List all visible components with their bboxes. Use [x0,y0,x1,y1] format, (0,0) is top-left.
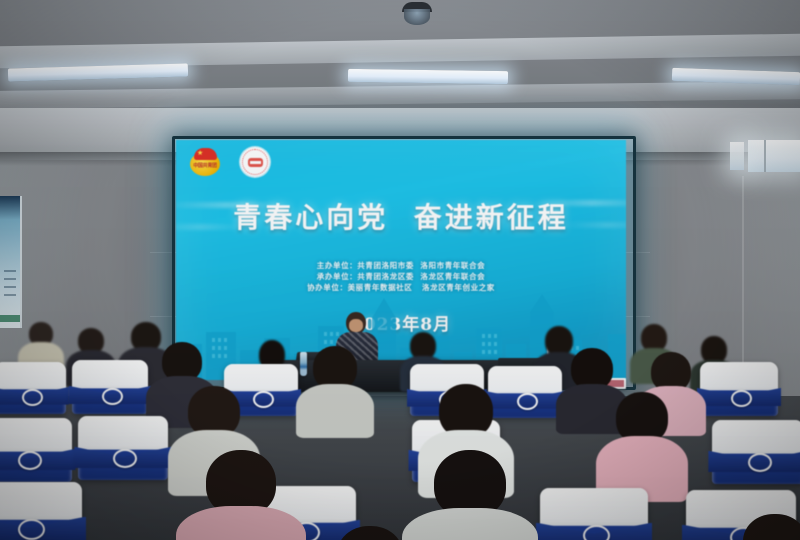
chair [700,362,778,416]
conference-hall-photo: ★ 中国共青团 青春心向党 奋进新征程 主办单位：共青团洛阳市委 洛阳市青年联合… [0,0,800,540]
chair [72,360,148,414]
youth-federation-emblem-icon [240,147,270,177]
chair [0,482,82,540]
screen-logos: ★ 中国共青团 [188,147,270,177]
chair [78,416,168,480]
audience-member [176,450,306,540]
chair [0,362,66,414]
audience-area [0,300,800,540]
credit-line-organiser: 承办单位：共青团洛龙区委 洛龙区青年联合会 [176,271,626,282]
audience-member [402,450,538,540]
chair [712,420,800,484]
communist-youth-league-emblem-icon: ★ 中国共青团 [188,147,222,177]
cyl-emblem-text: 中国共青团 [193,162,217,169]
upper-right-window-small [730,142,744,170]
screen-title: 青春心向党 奋进新征程 [176,196,626,236]
chair [540,488,648,540]
audience-member [330,526,410,540]
audience-member [296,346,374,428]
chair [0,418,72,482]
fluorescent-tube-light [348,69,508,84]
audience-member [738,514,800,540]
audience-member [596,392,688,492]
credit-line-host: 主办单位：共青团洛阳市委 洛阳市青年联合会 [176,260,626,271]
dome-security-camera [402,2,432,26]
upper-right-window [748,140,800,172]
